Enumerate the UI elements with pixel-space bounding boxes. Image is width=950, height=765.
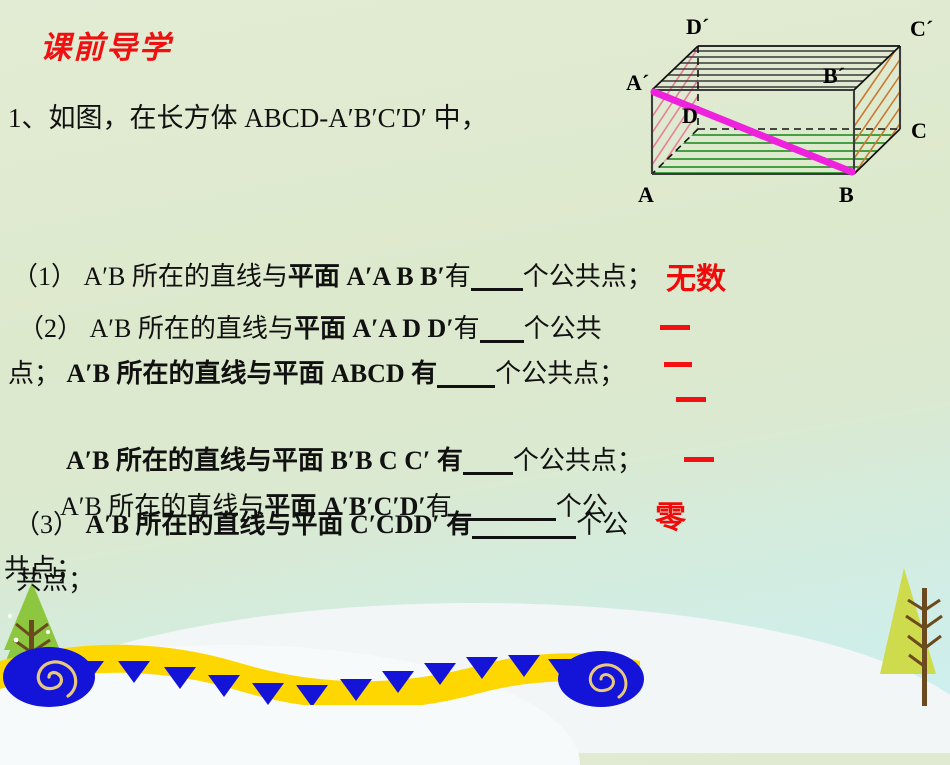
trailing-line-2: 共点； — [16, 560, 94, 597]
item2-post: 个公共 — [524, 314, 602, 343]
sub-question-3: 点； A′B 所在的直线与平面 ABCD 有个公共点； — [8, 353, 625, 390]
face-ABCD-top-hatch — [640, 51, 920, 87]
item2-plane-prefix: 平面 — [294, 314, 353, 343]
rectangular-box-diagram: D´ C´ A´ B´ D C A B — [620, 2, 950, 220]
item1-label: （1） — [12, 262, 77, 291]
item6-plane-prefix: 平面 — [291, 510, 350, 539]
ribbon-banner — [0, 635, 640, 705]
sub-question-2: （2） A′B 所在的直线与平面 A′A D D′有个公共 — [18, 308, 602, 345]
vertex-label-B: B — [839, 182, 854, 208]
item2-red-strike — [660, 325, 690, 330]
item1-plane-prefix: 平面 — [288, 262, 347, 291]
vertex-label-A: A — [638, 182, 654, 208]
item6-red-annotation: 零 — [655, 492, 686, 537]
sub-question-6: （3） A′B 所在的直线与平面 C′CDD′ 有个公 — [14, 504, 628, 541]
item1-post: 个公共点； — [523, 262, 653, 291]
vertex-label-Cprime: C´ — [910, 16, 933, 42]
item2-plane: A′A D D′ — [352, 314, 453, 343]
item4-post: 个公共点； — [513, 446, 643, 475]
vertex-label-Dprime: D´ — [686, 14, 709, 40]
question-stem: 1、如图，在长方体 ABCD-A′B′C′D′ 中， — [8, 96, 488, 135]
item3-red-dash-lower — [676, 397, 706, 402]
item3-blank[interactable] — [437, 385, 495, 388]
item4-blank[interactable] — [463, 472, 513, 475]
item6-has: 有 — [440, 510, 473, 539]
item4-red-dash — [684, 457, 714, 462]
stem-suffix: 中， — [427, 103, 488, 133]
item2-pre: A′B 所在的直线与 — [83, 314, 294, 343]
item4-pre: A′B 所在的直线与平面 — [66, 446, 330, 475]
sub-question-4: A′B 所在的直线与平面 B′B C C′ 有个公共点； — [66, 440, 643, 477]
item3-has: 有 — [405, 359, 438, 388]
item2-blank[interactable] — [480, 340, 524, 343]
pine-tree-right-icon — [878, 566, 950, 706]
spiral-ornament-left-icon — [2, 646, 96, 708]
item1-plane: A′A B B′ — [346, 262, 444, 291]
vertex-label-D: D — [682, 103, 698, 129]
item3-plane: ABCD — [331, 359, 405, 388]
item3-red-dash-upper — [664, 362, 692, 367]
item6-post: 个公 — [576, 510, 628, 539]
item4-has: 有 — [430, 446, 463, 475]
stem-prefix: 1、如图，在长方体 — [8, 103, 244, 133]
item1-blank[interactable] — [471, 288, 523, 291]
page-title: 课前导学 — [40, 22, 172, 67]
vertex-label-Aprime: A´ — [626, 70, 649, 96]
item3-label: 点； — [8, 359, 60, 388]
sub-question-1: （1） A′B 所在的直线与平面 A′A B B′有个公共点； — [12, 256, 653, 293]
item6-pre: A′B 所在的直线与 — [79, 510, 291, 539]
item6-plane: C′CDD′ — [350, 510, 440, 539]
spiral-ornament-right-icon — [557, 650, 645, 708]
item6-label: （3） — [14, 510, 79, 539]
item4-plane: B′B C C′ — [330, 446, 430, 475]
box-svg — [620, 2, 950, 220]
item2-has: 有 — [454, 314, 480, 343]
item1-pre: A′B 所在的直线与 — [77, 262, 288, 291]
solid-name: ABCD-A′B′C′D′ — [244, 103, 427, 133]
item6-blank[interactable] — [472, 536, 576, 539]
item2-label: （2） — [18, 314, 83, 343]
item3-pre: A′B 所在的直线与平面 — [60, 359, 331, 388]
vertex-label-Bprime: B´ — [823, 63, 845, 89]
item1-has: 有 — [445, 262, 471, 291]
vertex-label-C: C — [911, 118, 927, 144]
item3-post: 个公共点； — [495, 359, 625, 388]
item1-red-annotation: 无数 — [666, 254, 726, 298]
